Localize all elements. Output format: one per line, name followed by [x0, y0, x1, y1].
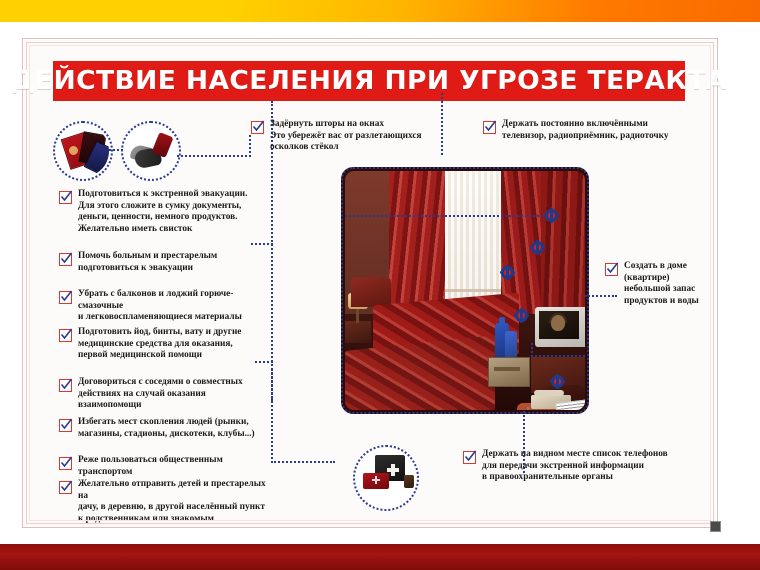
connector-photo-tv — [531, 355, 585, 357]
item-crowds[interactable]: Избегать мест скопления людей (рынки, ма… — [59, 417, 264, 440]
item-help-sick[interactable]: Помочь больным и престарелым подготовить… — [59, 251, 259, 274]
documents-circle-photo — [53, 121, 113, 181]
item-supplies-label: Создать в доме (квартире) небольшой запа… — [624, 261, 699, 307]
checkbox-icon[interactable] — [59, 191, 72, 204]
poster-title-banner: ДЕЙСТВИЕ НАСЕЛЕНИЯ ПРИ УГРОЗЕ ТЕРАКТА — [53, 61, 685, 101]
item-help-sick-label: Помочь больным и престарелым подготовить… — [78, 251, 217, 274]
marker-curtains — [545, 209, 558, 222]
item-children-label: Желательно отправить детей и престарелых… — [78, 479, 269, 525]
document-seal-icon — [69, 146, 78, 155]
checkbox-icon[interactable] — [59, 481, 72, 494]
tv-broadcast-person-face — [551, 315, 565, 331]
marker-phone-list — [551, 375, 564, 388]
room-photo — [341, 167, 589, 414]
marker-water — [501, 266, 514, 279]
gloves-circle-photo — [121, 121, 181, 181]
item-medicine[interactable]: Подготовить йод, бинты, вату и другие ме… — [59, 327, 259, 362]
item-balcony-label: Убрать с балконов и лоджий горюче-смазоч… — [78, 289, 269, 324]
connector-circles-to-evac — [177, 135, 251, 157]
bed-headboard — [351, 277, 391, 307]
first-aid-circle-photo — [353, 445, 419, 511]
item-curtains-label: Задёрнуть шторы на окнах Это убережёт ва… — [270, 119, 422, 154]
checkbox-icon[interactable] — [483, 121, 496, 134]
checkbox-icon[interactable] — [59, 329, 72, 342]
medkit-red-cross-icon — [372, 476, 380, 484]
window-frame-bar — [445, 289, 505, 292]
poster-frame: ДЕЙСТВИЕ НАСЕЛЕНИЯ ПРИ УГРОЗЕ ТЕРАКТА — [22, 38, 718, 528]
checkbox-icon[interactable] — [59, 457, 72, 470]
item-media-label: Держать постоянно включёнными телевизор,… — [502, 119, 669, 142]
corner-mark-icon — [710, 521, 721, 532]
item-medicine-label: Подготовить йод, бинты, вату и другие ме… — [78, 327, 241, 362]
medkit-bottle-icon — [404, 475, 414, 488]
connector-doc-circles — [109, 149, 123, 151]
checkbox-icon[interactable] — [59, 291, 72, 304]
item-neighbours-label: Договориться с соседями о совместных дей… — [78, 377, 264, 412]
connector-photo-curtains — [345, 215, 551, 217]
item-transport-label: Реже пользоваться общественным транспорт… — [78, 455, 269, 478]
item-supplies[interactable]: Создать в доме (квартире) небольшой запа… — [605, 261, 713, 307]
checkbox-icon[interactable] — [59, 419, 72, 432]
checkbox-icon[interactable] — [251, 121, 264, 134]
item-evacuation-label: Подготовиться к экстренной эвакуации. Дл… — [78, 189, 247, 235]
checkbox-icon[interactable] — [59, 253, 72, 266]
connector-medicine — [251, 243, 273, 245]
checkbox-icon[interactable] — [59, 379, 72, 392]
page-title: ДЕЙСТВИЕ НАСЕЛЕНИЯ ПРИ УГРОЗЕ ТЕРАКТА — [11, 66, 727, 96]
water-bottle-small — [505, 331, 517, 359]
item-crowds-label: Избегать мест скопления людей (рынки, ма… — [78, 417, 255, 440]
top-decorative-bar — [0, 0, 760, 22]
item-transport[interactable]: Реже пользоваться общественным транспорт… — [59, 455, 269, 478]
marker-supplies-box — [515, 309, 528, 322]
connector-photo-tv-v — [531, 343, 533, 357]
slide-canvas: ДЕЙСТВИЕ НАСЕЛЕНИЯ ПРИ УГРОЗЕ ТЕРАКТА — [0, 0, 760, 570]
supplies-box — [488, 357, 530, 387]
checkbox-icon[interactable] — [605, 263, 618, 276]
item-phones-label: Держать на видном месте список телефонов… — [482, 449, 668, 484]
item-neighbours[interactable]: Договориться с соседями о совместных дей… — [59, 377, 264, 412]
item-balcony[interactable]: Убрать с балконов и лоджий горюче-смазоч… — [59, 289, 269, 324]
lamp-stem — [356, 309, 359, 323]
bottom-decorative-bar — [0, 544, 760, 570]
nightstand — [345, 321, 371, 343]
item-evacuation[interactable]: Подготовиться к экстренной эвакуации. Дл… — [59, 189, 259, 235]
item-phones[interactable]: Держать на видном месте список телефонов… — [463, 449, 703, 484]
checkbox-icon[interactable] — [463, 451, 476, 464]
marker-television — [531, 241, 544, 254]
connector-down-to-kit — [271, 369, 335, 463]
item-children[interactable]: Желательно отправить детей и престарелых… — [59, 479, 269, 525]
kit-red-icon — [151, 132, 173, 158]
item-curtains[interactable]: Задёрнуть шторы на окнах Это убережёт ва… — [251, 119, 451, 154]
item-media[interactable]: Держать постоянно включёнными телевизор,… — [483, 119, 698, 142]
